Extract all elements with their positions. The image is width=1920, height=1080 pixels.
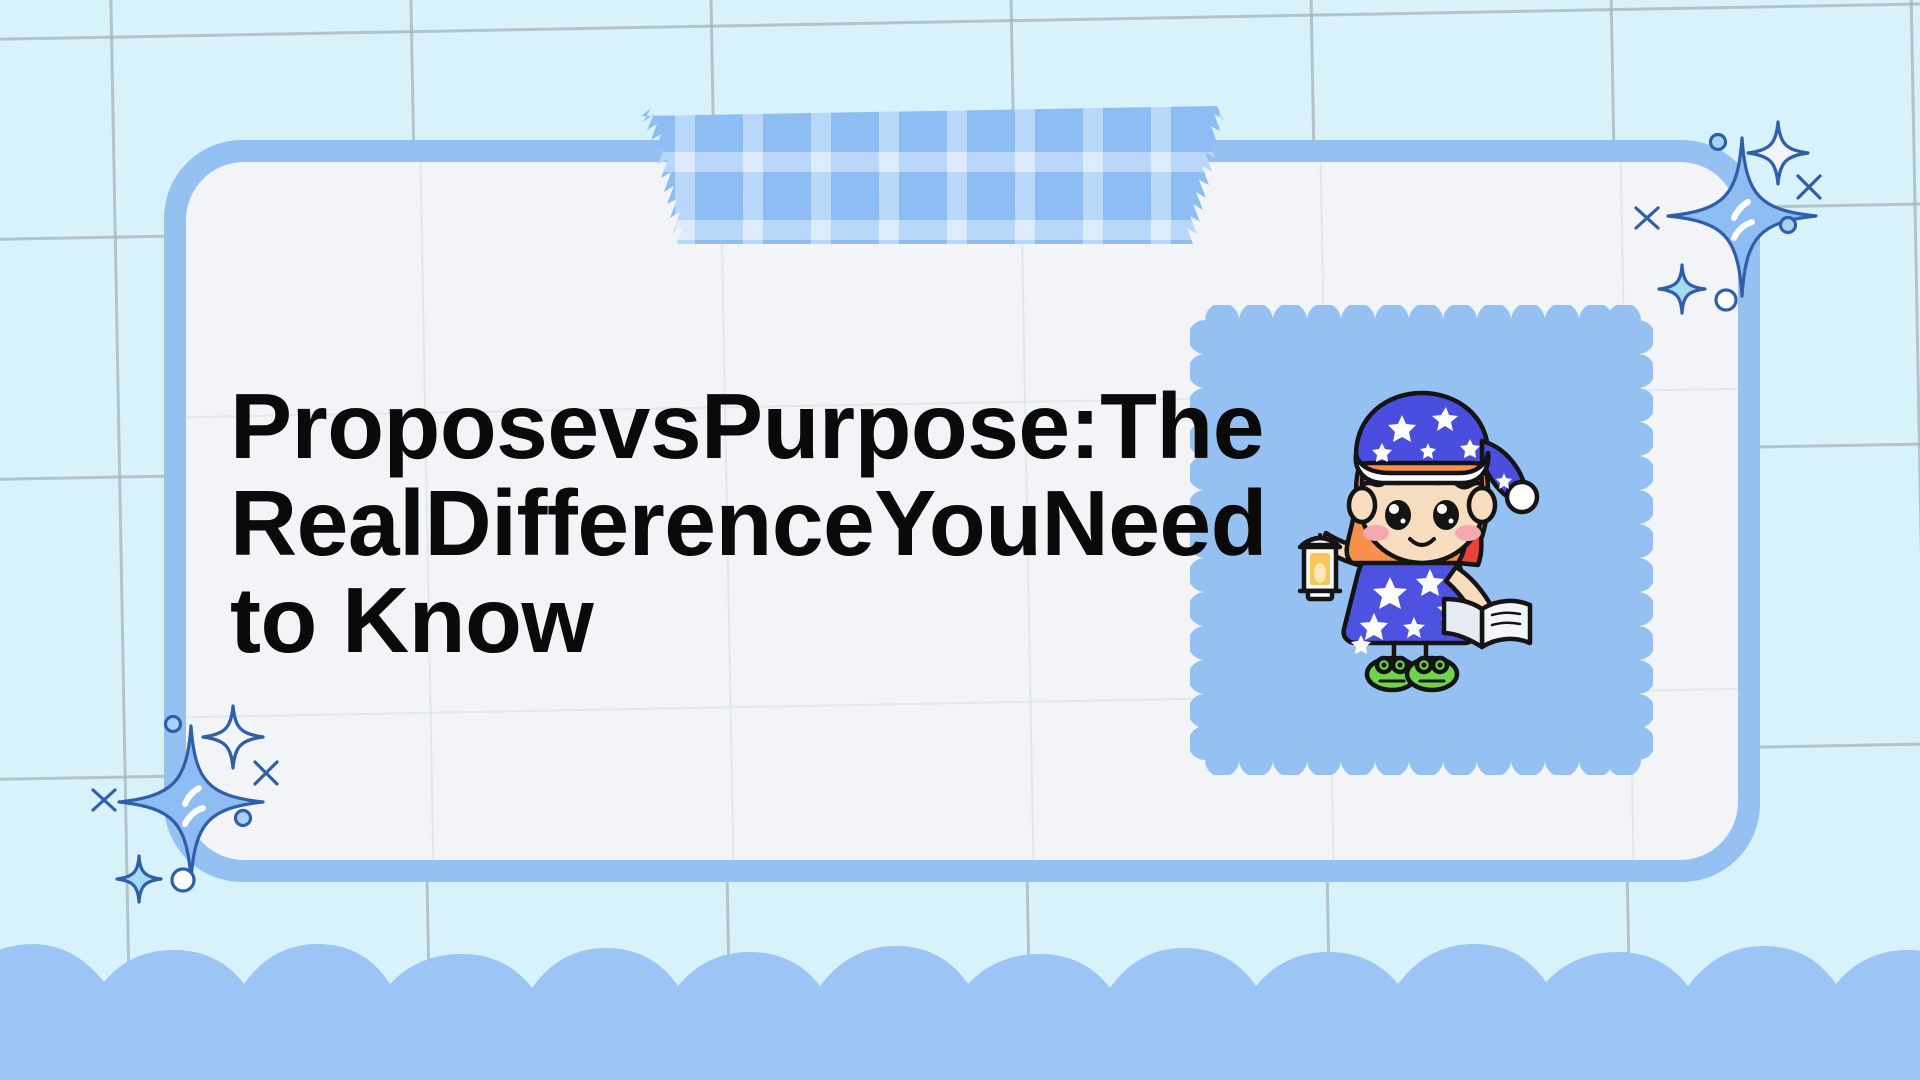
washi-tape-gingham (627, 104, 1242, 250)
small-four-point-star-outline-icon (1748, 122, 1808, 184)
small-four-point-star-outline-icon (203, 706, 263, 768)
x-mark-icon (1798, 176, 1820, 198)
title-line-2: Real Difference You Need (230, 475, 1188, 572)
large-four-point-star-icon (1668, 138, 1816, 296)
sparkle-cluster-bottom-left (55, 670, 375, 910)
tiny-diamond-icon (1659, 265, 1705, 313)
circle-outline-small-icon (166, 717, 181, 732)
circle-outline-small-icon (1711, 135, 1726, 150)
title-line-1: Propose vs Purpose: The (230, 378, 1188, 475)
title-word: Real (230, 475, 424, 572)
title-word: Purpose: (701, 378, 1100, 475)
title-word: You (874, 475, 1041, 572)
x-mark-icon (255, 762, 277, 784)
title-word: vs (599, 378, 701, 475)
title-card-canvas: Propose vs Purpose: The Real Difference … (0, 0, 1920, 1080)
plus-mark-icon (1636, 208, 1658, 228)
title-word: to (230, 568, 317, 672)
title-word: Need (1042, 475, 1267, 572)
title-word: The (1100, 378, 1264, 475)
circle-outline-large-icon (172, 869, 194, 891)
circle-outline-small-icon (1781, 218, 1796, 233)
title-word: Know (342, 568, 593, 672)
scalloped-cloud-band (0, 900, 1920, 1080)
sparkle-cluster-top-right (1620, 110, 1920, 340)
plus-mark-icon (93, 790, 115, 810)
tiny-diamond-icon (117, 856, 161, 902)
circle-outline-small-icon (236, 811, 251, 826)
page-title: Propose vs Purpose: The Real Difference … (230, 378, 1188, 669)
sleepy-girl-with-lantern-illustration (1286, 381, 1558, 699)
title-line-3: to Know (230, 572, 1188, 669)
circle-outline-large-icon (1716, 290, 1736, 310)
title-word: Difference (424, 475, 874, 572)
title-word: Propose (230, 378, 599, 475)
